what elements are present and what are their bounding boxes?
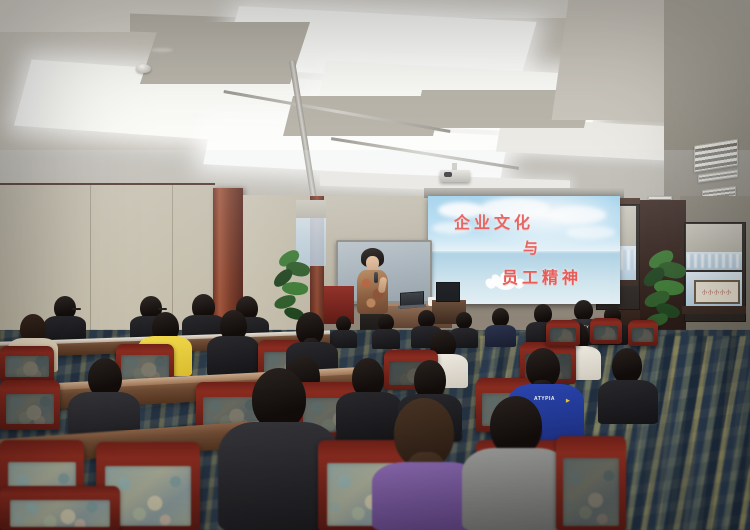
audience-chair[interactable]	[0, 380, 60, 430]
projector-lens-icon	[444, 172, 452, 177]
presenter-face	[366, 256, 379, 270]
smoke-detector-base	[151, 48, 173, 52]
shirt-logo-icon: ▶	[566, 398, 570, 404]
window-far-left-blind[interactable]	[296, 200, 326, 218]
audience-chair[interactable]	[590, 318, 622, 344]
audience-chair[interactable]	[0, 486, 120, 530]
smoke-detector-icon	[136, 64, 151, 73]
ceiling-coffer-left	[140, 22, 310, 84]
audience-chair[interactable]	[546, 320, 580, 346]
window-right-sill	[682, 306, 746, 314]
monitor	[436, 282, 460, 302]
slide-title-line-1: 企业文化	[454, 209, 534, 233]
window-right-blind[interactable]	[686, 224, 742, 252]
audience-chair[interactable]	[556, 436, 626, 530]
window-sign: 小小小小小	[694, 280, 740, 304]
handheld-microphone[interactable]	[374, 272, 378, 283]
slide-title-line-2: 与	[523, 237, 542, 258]
shirt-text-blue: ATYPIA	[534, 396, 555, 402]
audience-chair[interactable]	[628, 320, 658, 346]
window-right-skyline	[687, 254, 741, 268]
ceiling-corner-left	[0, 6, 130, 32]
projector-mount	[452, 163, 457, 170]
seminar-room-photo: 小小小小小	[0, 0, 750, 530]
audience-chair[interactable]	[0, 346, 54, 382]
slide-title-line-3: 员工精神	[502, 264, 582, 288]
window-sign-text: 小小小小小	[702, 289, 732, 296]
